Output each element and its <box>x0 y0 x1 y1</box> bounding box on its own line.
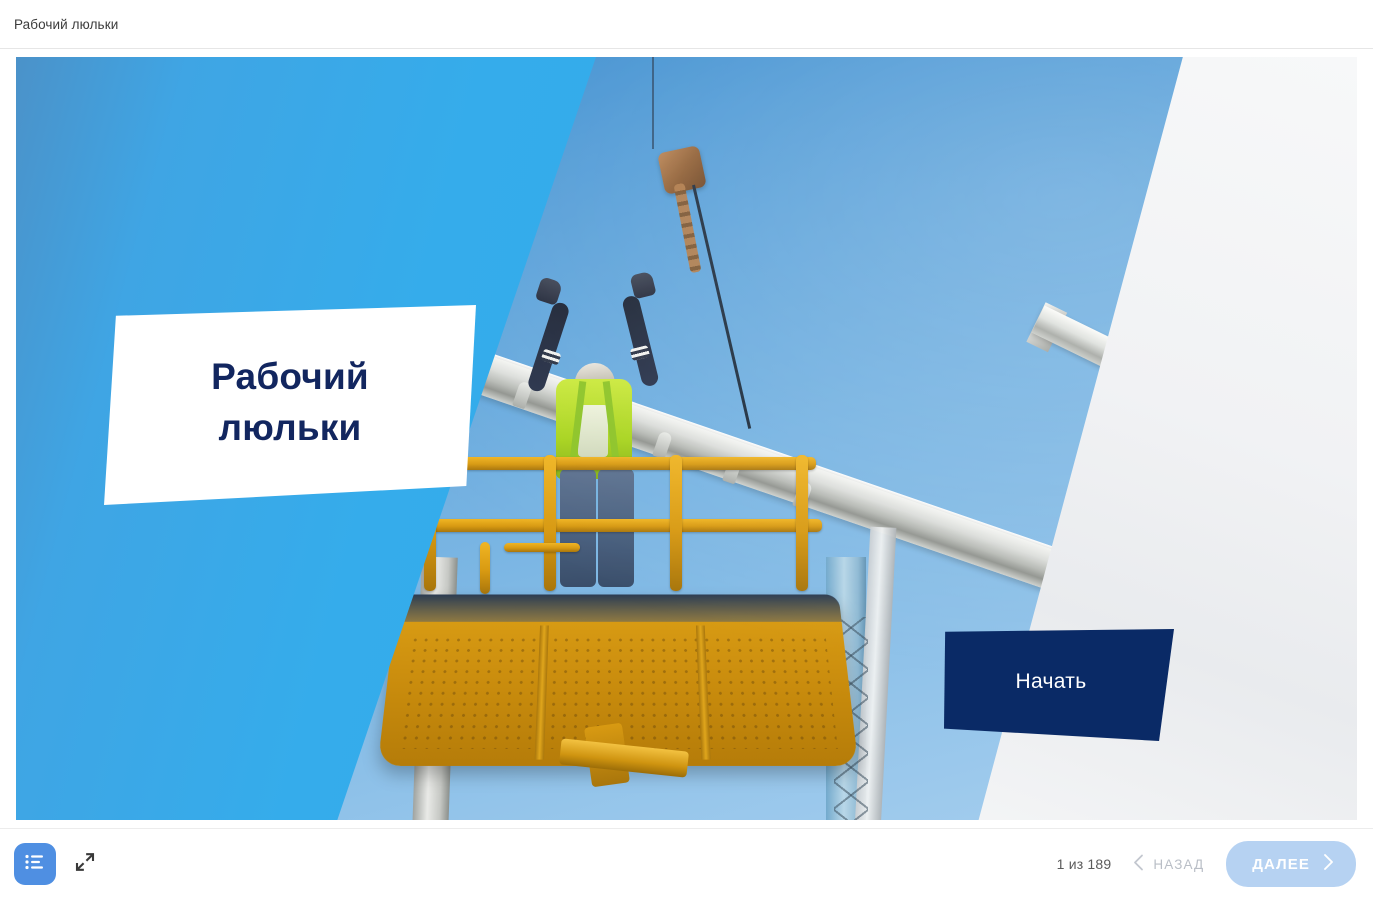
shear-stud <box>652 431 673 460</box>
next-button-label: ДАЛЕЕ <box>1252 856 1310 873</box>
worker-safety-harness <box>566 381 622 501</box>
back-button[interactable]: НАЗАД <box>1133 854 1204 874</box>
start-button-label: Начать <box>1016 670 1103 700</box>
next-button[interactable]: ДАЛЕЕ <box>1226 841 1356 887</box>
worker-hi-vis-vest <box>556 379 632 479</box>
worker-left-leg <box>560 469 596 587</box>
worker-helmet <box>573 361 615 389</box>
slide-counter: 1 из 189 <box>1057 856 1112 872</box>
start-button[interactable]: Начать <box>944 629 1174 741</box>
list-menu-icon <box>25 854 45 875</box>
slide-title-card: Рабочий люльки <box>104 305 476 505</box>
lifting-sling-rope <box>692 185 751 429</box>
slide-stage: Рабочий люльки Начать <box>16 57 1357 820</box>
slide-title-line-1: Рабочий <box>211 351 369 402</box>
basket-post-2 <box>544 455 556 591</box>
aerial-work-platform <box>384 457 852 762</box>
basket-deck-seam <box>696 626 711 760</box>
basket-perforated-panel <box>398 635 838 749</box>
crane-hook-block <box>657 145 707 195</box>
basket-deck <box>378 594 859 765</box>
glass-tower <box>826 557 866 820</box>
worker-right-leg <box>598 469 634 587</box>
toolbar-left-group <box>14 843 102 885</box>
shear-stud <box>792 481 813 510</box>
worker-right-glove <box>629 271 656 300</box>
toolbar-right-group: 1 из 189 НАЗАД ДАЛЕЕ <box>1057 841 1356 887</box>
lifting-chain <box>674 183 702 273</box>
beam-end-cap <box>1026 302 1067 352</box>
bottom-toolbar: 1 из 189 НАЗАД ДАЛЕЕ <box>0 828 1373 899</box>
basket-boom-pivot <box>584 723 630 788</box>
basket-top-rail <box>420 457 816 470</box>
shear-stud <box>722 456 743 485</box>
expand-arrows-icon <box>74 851 96 878</box>
worker-figure <box>536 307 686 607</box>
shear-stud <box>582 406 603 435</box>
worker-right-cuff <box>630 345 650 361</box>
crane-cable <box>652 57 654 149</box>
worker-left-cuff <box>541 349 562 366</box>
chevron-right-icon <box>1322 853 1334 875</box>
worker-left-glove <box>535 276 563 306</box>
shear-stud <box>512 381 533 410</box>
basket-post-3 <box>670 455 682 591</box>
chevron-left-icon <box>1133 854 1144 874</box>
basket-boom-arm <box>559 738 689 777</box>
page-title: Рабочий люльки <box>14 17 118 32</box>
basket-brace-left <box>480 542 490 594</box>
building-column <box>410 556 457 820</box>
worker-right-arm <box>621 294 660 387</box>
basket-mid-rail <box>412 519 822 532</box>
basket-post-right <box>796 455 808 591</box>
slide-title: Рабочий люльки <box>211 351 369 459</box>
slide-title-line-2: люльки <box>211 402 369 453</box>
basket-deck-seam <box>535 626 549 760</box>
app-header: Рабочий люльки <box>0 0 1373 49</box>
worker-left-arm <box>526 301 571 394</box>
crane-mast <box>852 527 897 820</box>
basket-brace-bar <box>504 543 580 552</box>
fullscreen-button[interactable] <box>68 847 102 881</box>
back-button-label: НАЗАД <box>1153 857 1204 872</box>
menu-button[interactable] <box>14 843 56 885</box>
crane-lattice <box>834 617 868 820</box>
